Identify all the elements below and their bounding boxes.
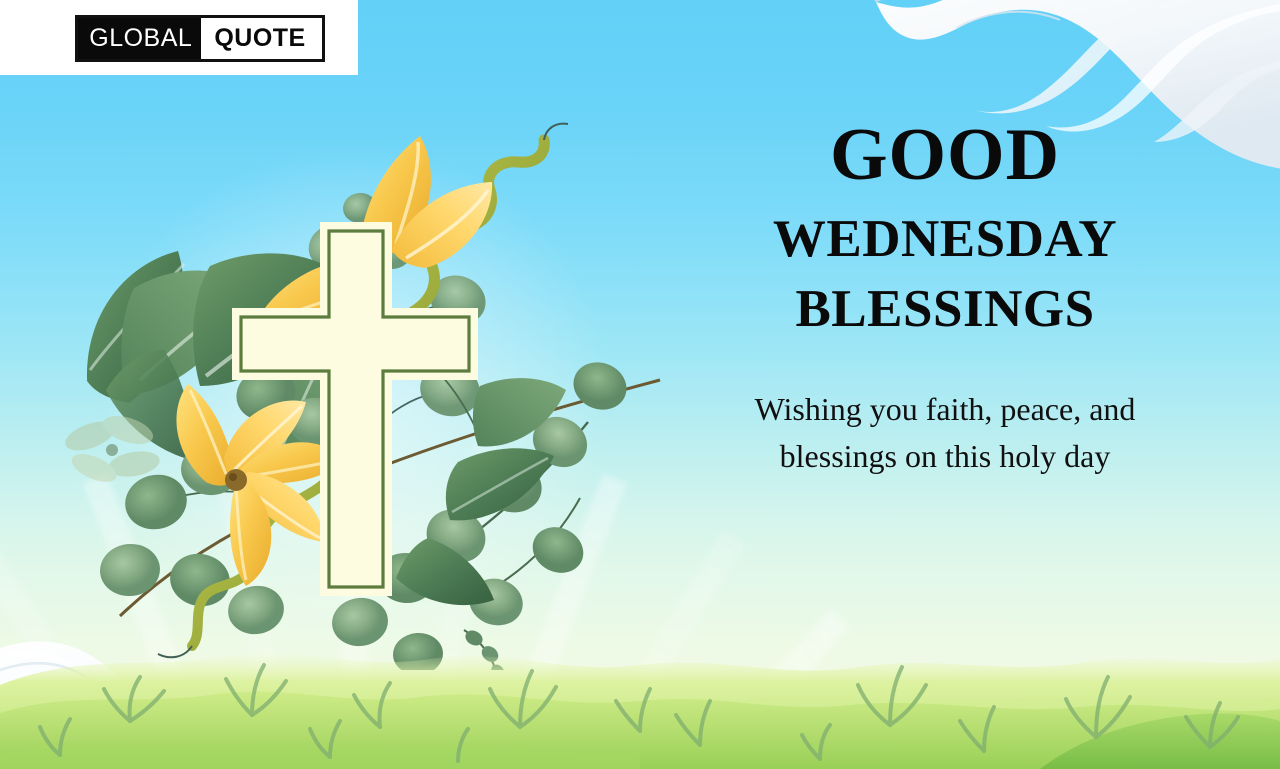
small-sprig-bottom xyxy=(463,627,508,670)
sun-ray xyxy=(0,706,363,769)
brand-logo[interactable]: GLOBAL QUOTE xyxy=(0,0,358,75)
sun-ray xyxy=(0,609,365,769)
greeting-message: Wishing you faith, peace, and blessings … xyxy=(730,386,1160,481)
greeting-text-block: GOOD WEDNESDAY BLESSINGS Wishing you fai… xyxy=(690,118,1200,480)
logo-word-quote: QUOTE xyxy=(201,18,321,59)
grass-band xyxy=(0,579,1280,769)
greeting-card: GLOBAL QUOTE GOOD WEDNESDAY BLESSINGS Wi… xyxy=(0,0,1280,769)
sun-ray xyxy=(347,706,937,769)
headline-line-blessings: BLESSINGS xyxy=(690,276,1200,344)
headline-line-good: GOOD xyxy=(690,118,1200,192)
white-cloth-bottom-left xyxy=(0,630,270,769)
christian-cross xyxy=(232,222,478,596)
faded-flower-left xyxy=(61,411,161,488)
logo-word-global: GLOBAL xyxy=(78,18,201,59)
logo-frame: GLOBAL QUOTE xyxy=(75,15,324,62)
sun-ray xyxy=(345,609,849,769)
headline-line-weekday: WEDNESDAY xyxy=(690,206,1200,274)
